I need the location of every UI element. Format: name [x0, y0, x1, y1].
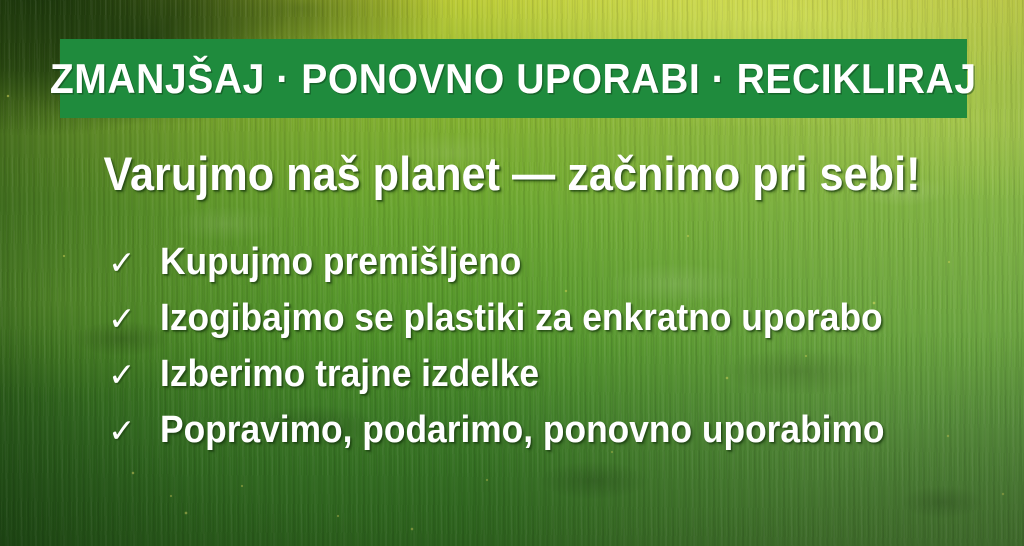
headline: Varujmo naš planet — začnimo pri sebi!: [0, 149, 1024, 199]
poster-content: ZMANJŠAJ · PONOVNO UPORABI · RECIKLIRAJ …: [0, 0, 1024, 546]
eyebrow-banner: ZMANJŠAJ · PONOVNO UPORABI · RECIKLIRAJ: [60, 39, 967, 118]
eyebrow-banner-text: ZMANJŠAJ · PONOVNO UPORABI · RECIKLIRAJ: [50, 55, 977, 103]
list-item-label: Izogibajmo se plastiki za enkratno upora…: [160, 299, 921, 337]
recycling-poster: ZMANJŠAJ · PONOVNO UPORABI · RECIKLIRAJ …: [0, 0, 1024, 546]
list-item: ✓ Izberimo trajne izdelke: [108, 355, 978, 411]
list-item-label: Izberimo trajne izdelke: [160, 355, 921, 393]
headline-text: Varujmo naš planet — začnimo pri sebi!: [104, 149, 921, 199]
check-icon: ✓: [108, 358, 160, 391]
list-item: ✓ Popravimo, podarimo, ponovno uporabimo: [108, 411, 978, 467]
check-icon: ✓: [108, 414, 160, 447]
check-icon: ✓: [108, 246, 160, 279]
list-item: ✓ Kupujmo premišljeno: [108, 243, 978, 299]
list-item-label: Popravimo, podarimo, ponovno uporabimo: [160, 411, 921, 449]
check-icon: ✓: [108, 302, 160, 335]
bullet-list: ✓ Kupujmo premišljeno ✓ Izogibajmo se pl…: [108, 243, 978, 467]
list-item: ✓ Izogibajmo se plastiki za enkratno upo…: [108, 299, 978, 355]
list-item-label: Kupujmo premišljeno: [160, 243, 921, 281]
